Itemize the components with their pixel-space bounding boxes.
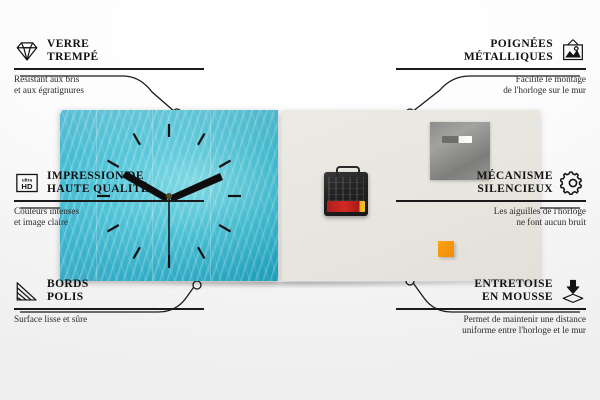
- gear-icon: [560, 170, 586, 196]
- feature-title-line2: TREMPÉ: [47, 51, 99, 64]
- feature-title-line1: MÉCANISME: [477, 170, 553, 183]
- feature-sub-line1: Couleurs intenses: [14, 206, 204, 217]
- polished-edge-icon: [14, 278, 40, 304]
- feature-poignees-metalliques: POIGNÉES MÉTALLIQUES Facilite le montage…: [396, 38, 586, 96]
- feature-rule: [396, 200, 586, 202]
- tick-2: [219, 161, 230, 168]
- feature-mecanisme-silencieux: MÉCANISME SILENCIEUX Les aiguilles de l'…: [396, 170, 586, 228]
- feature-rule: [396, 68, 586, 70]
- tick-7: [134, 247, 141, 258]
- feature-title-line1: IMPRESSION DE: [47, 170, 149, 183]
- feature-entretoise-en-mousse: ENTRETOISE EN MOUSSE Permet de maintenir…: [396, 278, 586, 336]
- feature-head: ultra HD IMPRESSION DE HAUTE QUALITÉ: [14, 170, 204, 196]
- feature-title-line2: POLIS: [47, 291, 89, 304]
- feature-rule: [14, 308, 204, 310]
- feature-title-line1: ENTRETOISE: [474, 278, 553, 291]
- feature-subtitle: Les aiguilles de l'horloge ne font aucun…: [396, 206, 586, 228]
- feature-head: MÉCANISME SILENCIEUX: [396, 170, 586, 196]
- feature-sub-line1: Résistant aux bris: [14, 74, 204, 85]
- feature-rule: [396, 308, 586, 310]
- feature-title: ENTRETOISE EN MOUSSE: [474, 278, 553, 304]
- feature-subtitle: Facilite le montage de l'horloge sur le …: [396, 74, 586, 96]
- tick-10: [108, 161, 119, 168]
- feature-title: IMPRESSION DE HAUTE QUALITÉ: [47, 170, 149, 196]
- feature-head: POIGNÉES MÉTALLIQUES: [396, 38, 586, 64]
- clock-mechanism: [324, 172, 368, 216]
- hanging-picture-frame-icon: [560, 38, 586, 64]
- feature-title-line1: VERRE: [47, 38, 99, 51]
- feature-subtitle: Couleurs intenses et image claire: [14, 206, 204, 228]
- feature-sub-line2: ne font aucun bruit: [396, 217, 586, 228]
- tick-1: [198, 134, 205, 145]
- feature-title-line2: SILENCIEUX: [477, 183, 553, 196]
- feature-head: VERRE TREMPÉ: [14, 38, 204, 64]
- feature-sub-line1: Permet de maintenir une distance: [396, 314, 586, 325]
- diamond-icon: [14, 38, 40, 64]
- hanger-slot: [442, 136, 472, 143]
- feature-title: BORDS POLIS: [47, 278, 89, 304]
- feature-title: MÉCANISME SILENCIEUX: [477, 170, 553, 196]
- feature-sub-line2: uniforme entre l'horloge et le mur: [396, 325, 586, 336]
- svg-text:HD: HD: [21, 182, 33, 191]
- feature-title-line1: POIGNÉES: [464, 38, 553, 51]
- battery: [327, 201, 365, 212]
- feature-subtitle: Surface lisse et sûre: [14, 314, 204, 325]
- feature-impression-haute-qualite: ultra HD IMPRESSION DE HAUTE QUALITÉ Cou…: [14, 170, 204, 228]
- feature-title: POIGNÉES MÉTALLIQUES: [464, 38, 553, 64]
- mechanism-detail: [328, 177, 364, 201]
- feature-head: ENTRETOISE EN MOUSSE: [396, 278, 586, 304]
- feature-head: BORDS POLIS: [14, 278, 204, 304]
- feature-sub-line2: et aux égratignures: [14, 85, 204, 96]
- infographic-canvas: VERRE TREMPÉ Résistant aux bris et aux é…: [0, 0, 600, 400]
- tick-11: [134, 134, 141, 145]
- feature-rule: [14, 68, 204, 70]
- feature-bords-polis: BORDS POLIS Surface lisse et sûre: [14, 278, 204, 325]
- feature-sub-line1: Surface lisse et sûre: [14, 314, 204, 325]
- foam-spacer: [438, 241, 454, 257]
- feature-verre-trempe: VERRE TREMPÉ Résistant aux bris et aux é…: [14, 38, 204, 96]
- feature-title-line2: MÉTALLIQUES: [464, 51, 553, 64]
- feature-sub-line2: et image claire: [14, 217, 204, 228]
- feature-sub-line1: Les aiguilles de l'horloge: [396, 206, 586, 217]
- tick-4: [219, 225, 230, 232]
- feature-title-line1: BORDS: [47, 278, 89, 291]
- feature-rule: [14, 200, 204, 202]
- feature-subtitle: Permet de maintenir une distance uniform…: [396, 314, 586, 336]
- feature-subtitle: Résistant aux bris et aux égratignures: [14, 74, 204, 96]
- ultra-hd-icon: ultra HD: [14, 170, 40, 196]
- feature-title: VERRE TREMPÉ: [47, 38, 99, 64]
- foam-spacer-arrow-icon: [560, 278, 586, 304]
- mechanism-hook: [336, 166, 360, 176]
- feature-title-line2: EN MOUSSE: [474, 291, 553, 304]
- feature-title-line2: HAUTE QUALITÉ: [47, 183, 149, 196]
- feature-sub-line1: Facilite le montage: [396, 74, 586, 85]
- tick-5: [198, 247, 205, 258]
- feature-sub-line2: de l'horloge sur le mur: [396, 85, 586, 96]
